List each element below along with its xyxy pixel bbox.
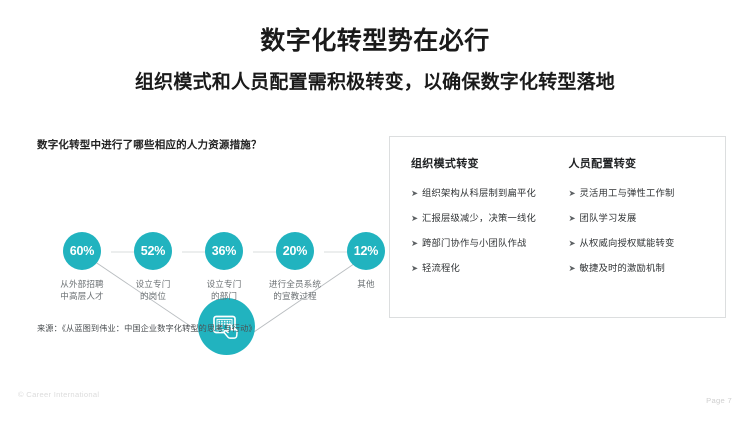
- node-label-line2: 的部门: [191, 290, 257, 302]
- arrow-bullet-icon: ➤: [411, 238, 422, 249]
- list-item-label: 汇报层级减少，决策一线化: [422, 213, 536, 224]
- percentage-bubble: 36%: [205, 232, 243, 270]
- node-label-line2: 的宣教过程: [262, 290, 328, 302]
- list-item: ➤ 跨部门协作与小团队作战: [411, 238, 558, 249]
- arrow-bullet-icon: ➤: [569, 263, 580, 274]
- transformation-panel: 组织模式转变 ➤ 组织架构从科层制到扁平化 ➤ 汇报层级减少，决策一线化 ➤ 跨…: [389, 136, 726, 318]
- list-item-label: 灵活用工与弹性工作制: [580, 188, 675, 199]
- source-note: 来源：《从蓝图到伟业：中国企业数字化转型的思考与行动》: [37, 322, 257, 334]
- copyright-text: © Career International: [18, 390, 99, 399]
- arrow-bullet-icon: ➤: [411, 263, 422, 274]
- page-number: Page 7: [706, 396, 732, 405]
- arrow-bullet-icon: ➤: [569, 238, 580, 249]
- column-heading: 人员配置转变: [569, 155, 726, 171]
- list-item-label: 从权威向授权赋能转变: [580, 238, 675, 249]
- node-label-line1: 设立专门: [191, 278, 257, 290]
- percentage-bubble: 60%: [63, 232, 101, 270]
- arrow-bullet-icon: ➤: [411, 188, 422, 199]
- list-item: ➤ 轻流程化: [411, 263, 558, 274]
- arrow-bullet-icon: ➤: [411, 213, 422, 224]
- node-label-line1: 进行全员系统: [262, 278, 328, 290]
- panel-column-organization: 组织模式转变 ➤ 组织架构从科层制到扁平化 ➤ 汇报层级减少，决策一线化 ➤ 跨…: [390, 137, 558, 317]
- bullet-list: ➤ 组织架构从科层制到扁平化 ➤ 汇报层级减少，决策一线化 ➤ 跨部门协作与小团…: [411, 188, 558, 275]
- slide-canvas: 数字化转型势在必行 组织模式和人员配置需积极转变，以确保数字化转型落地 数字化转…: [0, 0, 750, 422]
- list-item: ➤ 灵活用工与弹性工作制: [569, 188, 726, 199]
- node-label-line2: 中高层人才: [49, 290, 115, 302]
- node-label: 从外部招聘 中高层人才: [49, 278, 115, 303]
- chart-node: 20% 进行全员系统 的宣教过程: [262, 232, 328, 303]
- chart-node: 52% 设立专门 的岗位: [120, 232, 186, 303]
- list-item-label: 团队学习发展: [580, 213, 637, 224]
- chart-node: 60% 从外部招聘 中高层人才: [49, 232, 115, 303]
- list-item: ➤ 汇报层级减少，决策一线化: [411, 213, 558, 224]
- chart-node: 36% 设立专门 的部门: [191, 232, 257, 303]
- hr-measures-chart: 数字化转型中进行了哪些相应的人力资源措施？: [20, 132, 380, 347]
- page-title: 数字化转型势在必行: [0, 26, 750, 56]
- list-item: ➤ 团队学习发展: [569, 213, 726, 224]
- list-item-label: 跨部门协作与小团队作战: [422, 238, 526, 249]
- list-item-label: 敏捷及时的激励机制: [580, 263, 665, 274]
- list-item: ➤ 敏捷及时的激励机制: [569, 263, 726, 274]
- node-label-line2: 的岗位: [120, 290, 186, 302]
- percentage-bubble: 12%: [347, 232, 385, 270]
- list-item-label: 组织架构从科层制到扁平化: [422, 188, 536, 199]
- arrow-bullet-icon: ➤: [569, 188, 580, 199]
- node-label: 设立专门 的岗位: [120, 278, 186, 303]
- list-item-label: 轻流程化: [422, 263, 460, 274]
- node-label-line1: 从外部招聘: [49, 278, 115, 290]
- arrow-bullet-icon: ➤: [569, 213, 580, 224]
- node-label: 设立专门 的部门: [191, 278, 257, 303]
- panel-column-staffing: 人员配置转变 ➤ 灵活用工与弹性工作制 ➤ 团队学习发展 ➤ 从权威向授权赋能转…: [558, 137, 726, 317]
- list-item: ➤ 组织架构从科层制到扁平化: [411, 188, 558, 199]
- percentage-bubble: 52%: [134, 232, 172, 270]
- node-label: 进行全员系统 的宣教过程: [262, 278, 328, 303]
- bullet-list: ➤ 灵活用工与弹性工作制 ➤ 团队学习发展 ➤ 从权威向授权赋能转变 ➤ 敏捷及…: [569, 188, 726, 275]
- node-label-line1: 设立专门: [120, 278, 186, 290]
- percentage-bubble: 20%: [276, 232, 314, 270]
- list-item: ➤ 从权威向授权赋能转变: [569, 238, 726, 249]
- column-heading: 组织模式转变: [411, 155, 558, 171]
- page-subtitle: 组织模式和人员配置需积极转变，以确保数字化转型落地: [0, 72, 750, 95]
